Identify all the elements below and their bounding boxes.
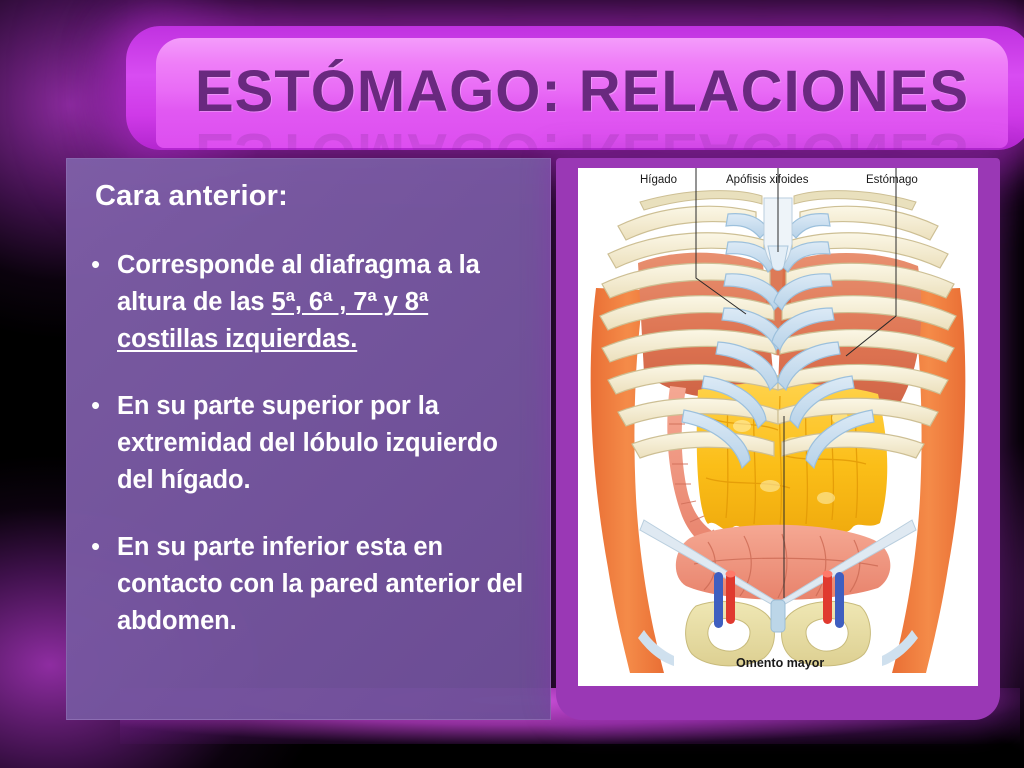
figure-label-apofisis-xifoides: Apófisis xifoides xyxy=(726,174,808,186)
anatomy-illustration-icon xyxy=(578,168,978,686)
figure-label-estomago: Estómago xyxy=(866,174,918,186)
bullet-text: Corresponde al diafragma a la altura de … xyxy=(117,247,532,358)
list-item: • Corresponde al diafragma a la altura d… xyxy=(83,247,532,358)
bullet-text: En su parte inferior esta en contacto co… xyxy=(117,529,532,640)
anatomy-figure: Hígado Apófisis xifoides Estómago Omento… xyxy=(578,168,978,686)
bullet-marker: • xyxy=(83,529,117,563)
figure-label-omento-mayor: Omento mayor xyxy=(736,656,824,670)
bullet-list: • Corresponde al diafragma a la altura d… xyxy=(83,247,532,640)
presentation-slide: ESTÓMAGO: RELACIONES ESTÓMAGO: RELACIONE… xyxy=(0,0,1024,768)
list-item: • En su parte inferior esta en contacto … xyxy=(83,529,532,640)
bullet-marker: • xyxy=(83,388,117,422)
content-text-panel: Cara anterior: • Corresponde al diafragm… xyxy=(66,158,551,720)
figure-frame: Hígado Apófisis xifoides Estómago Omento… xyxy=(556,158,1000,720)
slide-title: ESTÓMAGO: RELACIONES xyxy=(156,58,1008,125)
title-banner: ESTÓMAGO: RELACIONES ESTÓMAGO: RELACIONE… xyxy=(126,26,1024,150)
section-heading: Cara anterior: xyxy=(95,180,532,213)
bullet-marker: • xyxy=(83,247,117,281)
figure-label-higado: Hígado xyxy=(640,174,677,186)
bullet-text: En su parte superior por la extremidad d… xyxy=(117,388,532,499)
title-banner-inner: ESTÓMAGO: RELACIONES ESTÓMAGO: RELACIONE… xyxy=(156,38,1008,148)
list-item: • En su parte superior por la extremidad… xyxy=(83,388,532,499)
